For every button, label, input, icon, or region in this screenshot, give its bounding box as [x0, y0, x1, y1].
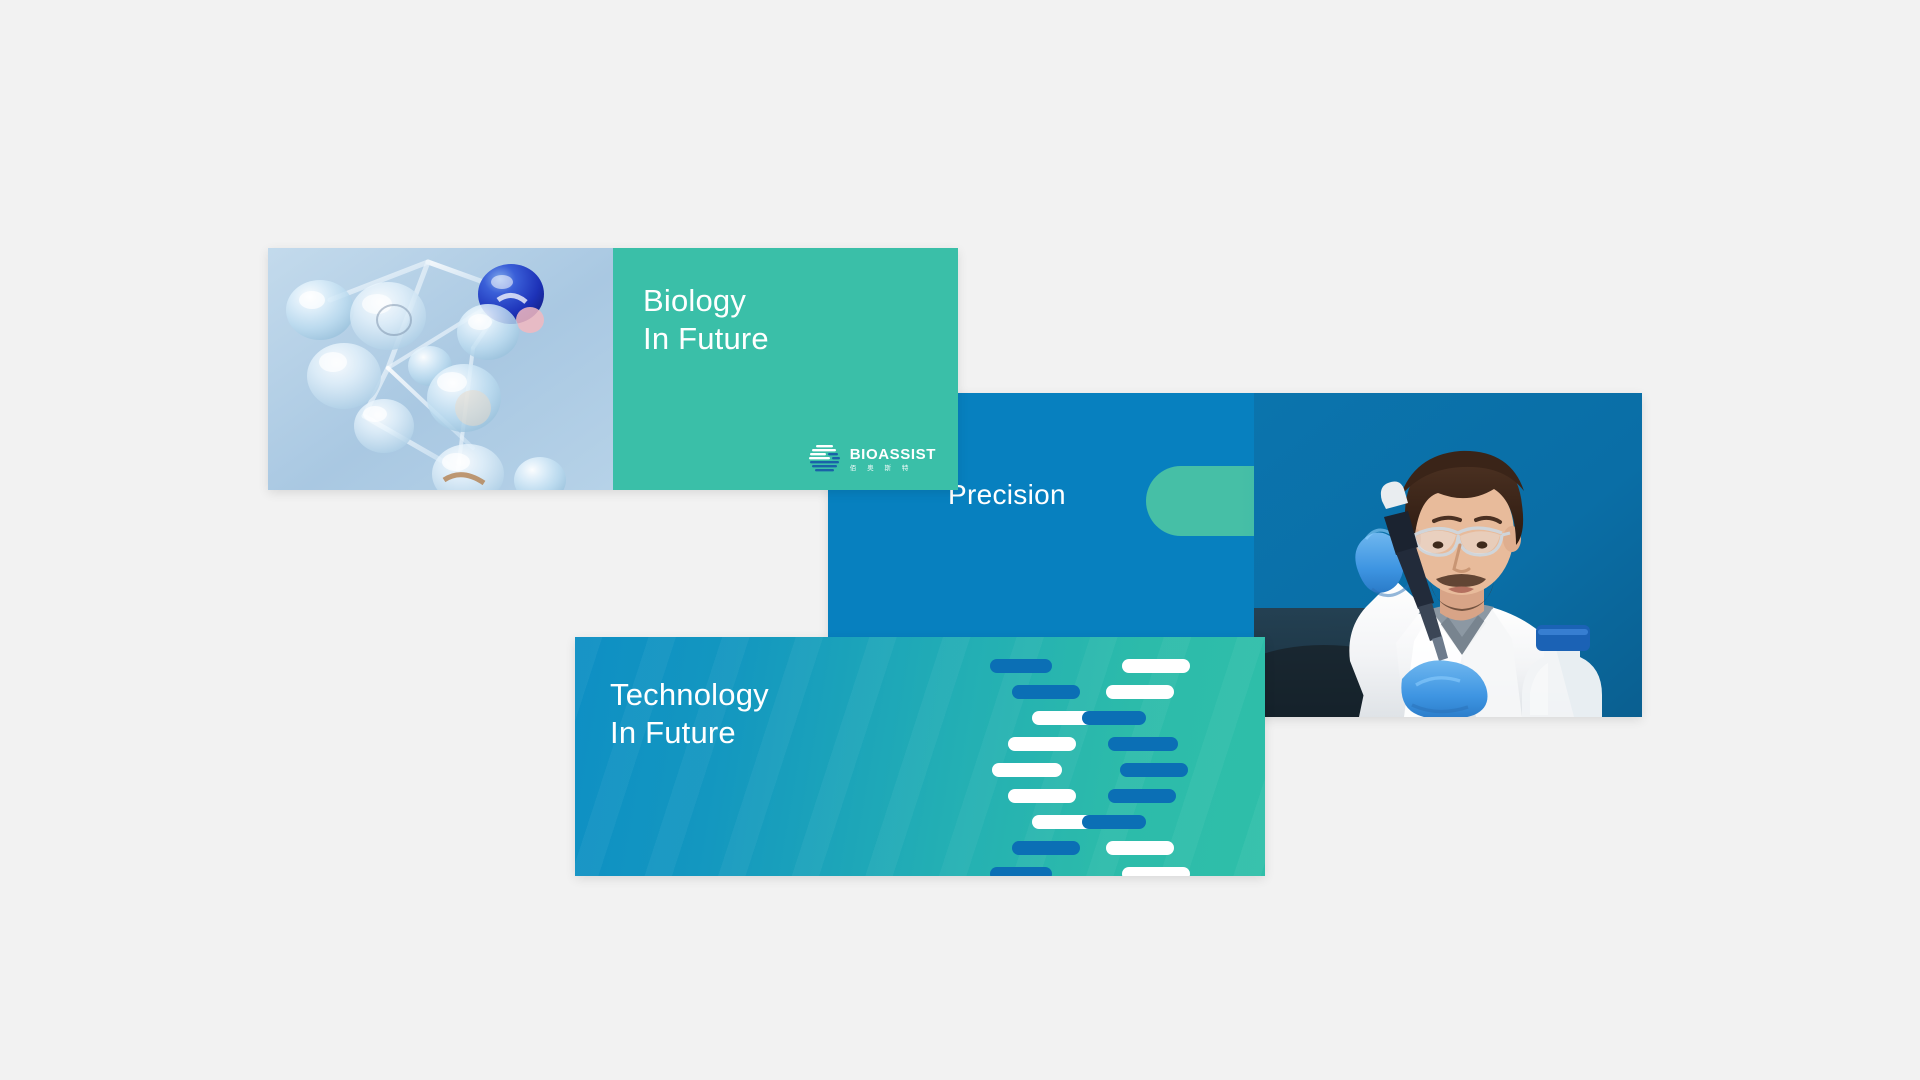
gel-row	[990, 841, 1190, 855]
gel-bar-blue	[1082, 711, 1146, 725]
gel-bar-blue	[990, 867, 1052, 876]
biology-text-panel: Biology In Future	[613, 248, 958, 490]
gel-bar-blue	[1012, 841, 1080, 855]
gel-bar-blue	[1108, 789, 1176, 803]
scientist-with-pipette-photo	[1254, 393, 1642, 717]
logo-word-cn: 佰 奥 斯 特	[850, 465, 936, 472]
dna-gel-electrophoresis-pattern	[990, 637, 1190, 876]
gel-bar-blue	[990, 659, 1052, 673]
gel-bar-white	[1008, 737, 1076, 751]
gel-row	[990, 685, 1190, 699]
precision-title: Precision	[948, 479, 1066, 511]
technology-title: Technology In Future	[610, 676, 769, 752]
gel-row	[990, 659, 1190, 673]
logo-word-en: BIOASSIST	[850, 447, 936, 462]
logo-wordmark: BIOASSIST 佰 奥 斯 特	[850, 447, 936, 472]
gel-row	[990, 737, 1190, 751]
biology-title: Biology In Future	[643, 282, 958, 358]
gel-bar-blue	[1012, 685, 1080, 699]
glass-molecule-spheres-photo	[268, 248, 613, 490]
gel-row	[990, 763, 1190, 777]
gel-bar-white	[1008, 789, 1076, 803]
gel-row	[990, 867, 1190, 876]
gel-bar-blue	[1108, 737, 1178, 751]
gel-bar-white	[1106, 841, 1174, 855]
gel-bar-white	[992, 763, 1062, 777]
gel-bar-blue	[1120, 763, 1188, 777]
biology-in-future-banner[interactable]: Biology In Future	[268, 248, 958, 490]
gel-row	[990, 711, 1190, 725]
dna-gel-bars-icon	[808, 444, 842, 474]
gel-bar-blue	[1082, 815, 1146, 829]
gel-row	[990, 789, 1190, 803]
slide-canvas: Biology In Future	[0, 0, 1920, 1080]
technology-in-future-banner[interactable]: Technology In Future	[575, 637, 1265, 876]
gel-bar-white	[1122, 659, 1190, 673]
gel-row	[990, 815, 1190, 829]
gel-bar-white	[1106, 685, 1174, 699]
gel-bar-white	[1122, 867, 1190, 876]
bioassist-logo[interactable]: BIOASSIST 佰 奥 斯 特	[808, 444, 936, 474]
